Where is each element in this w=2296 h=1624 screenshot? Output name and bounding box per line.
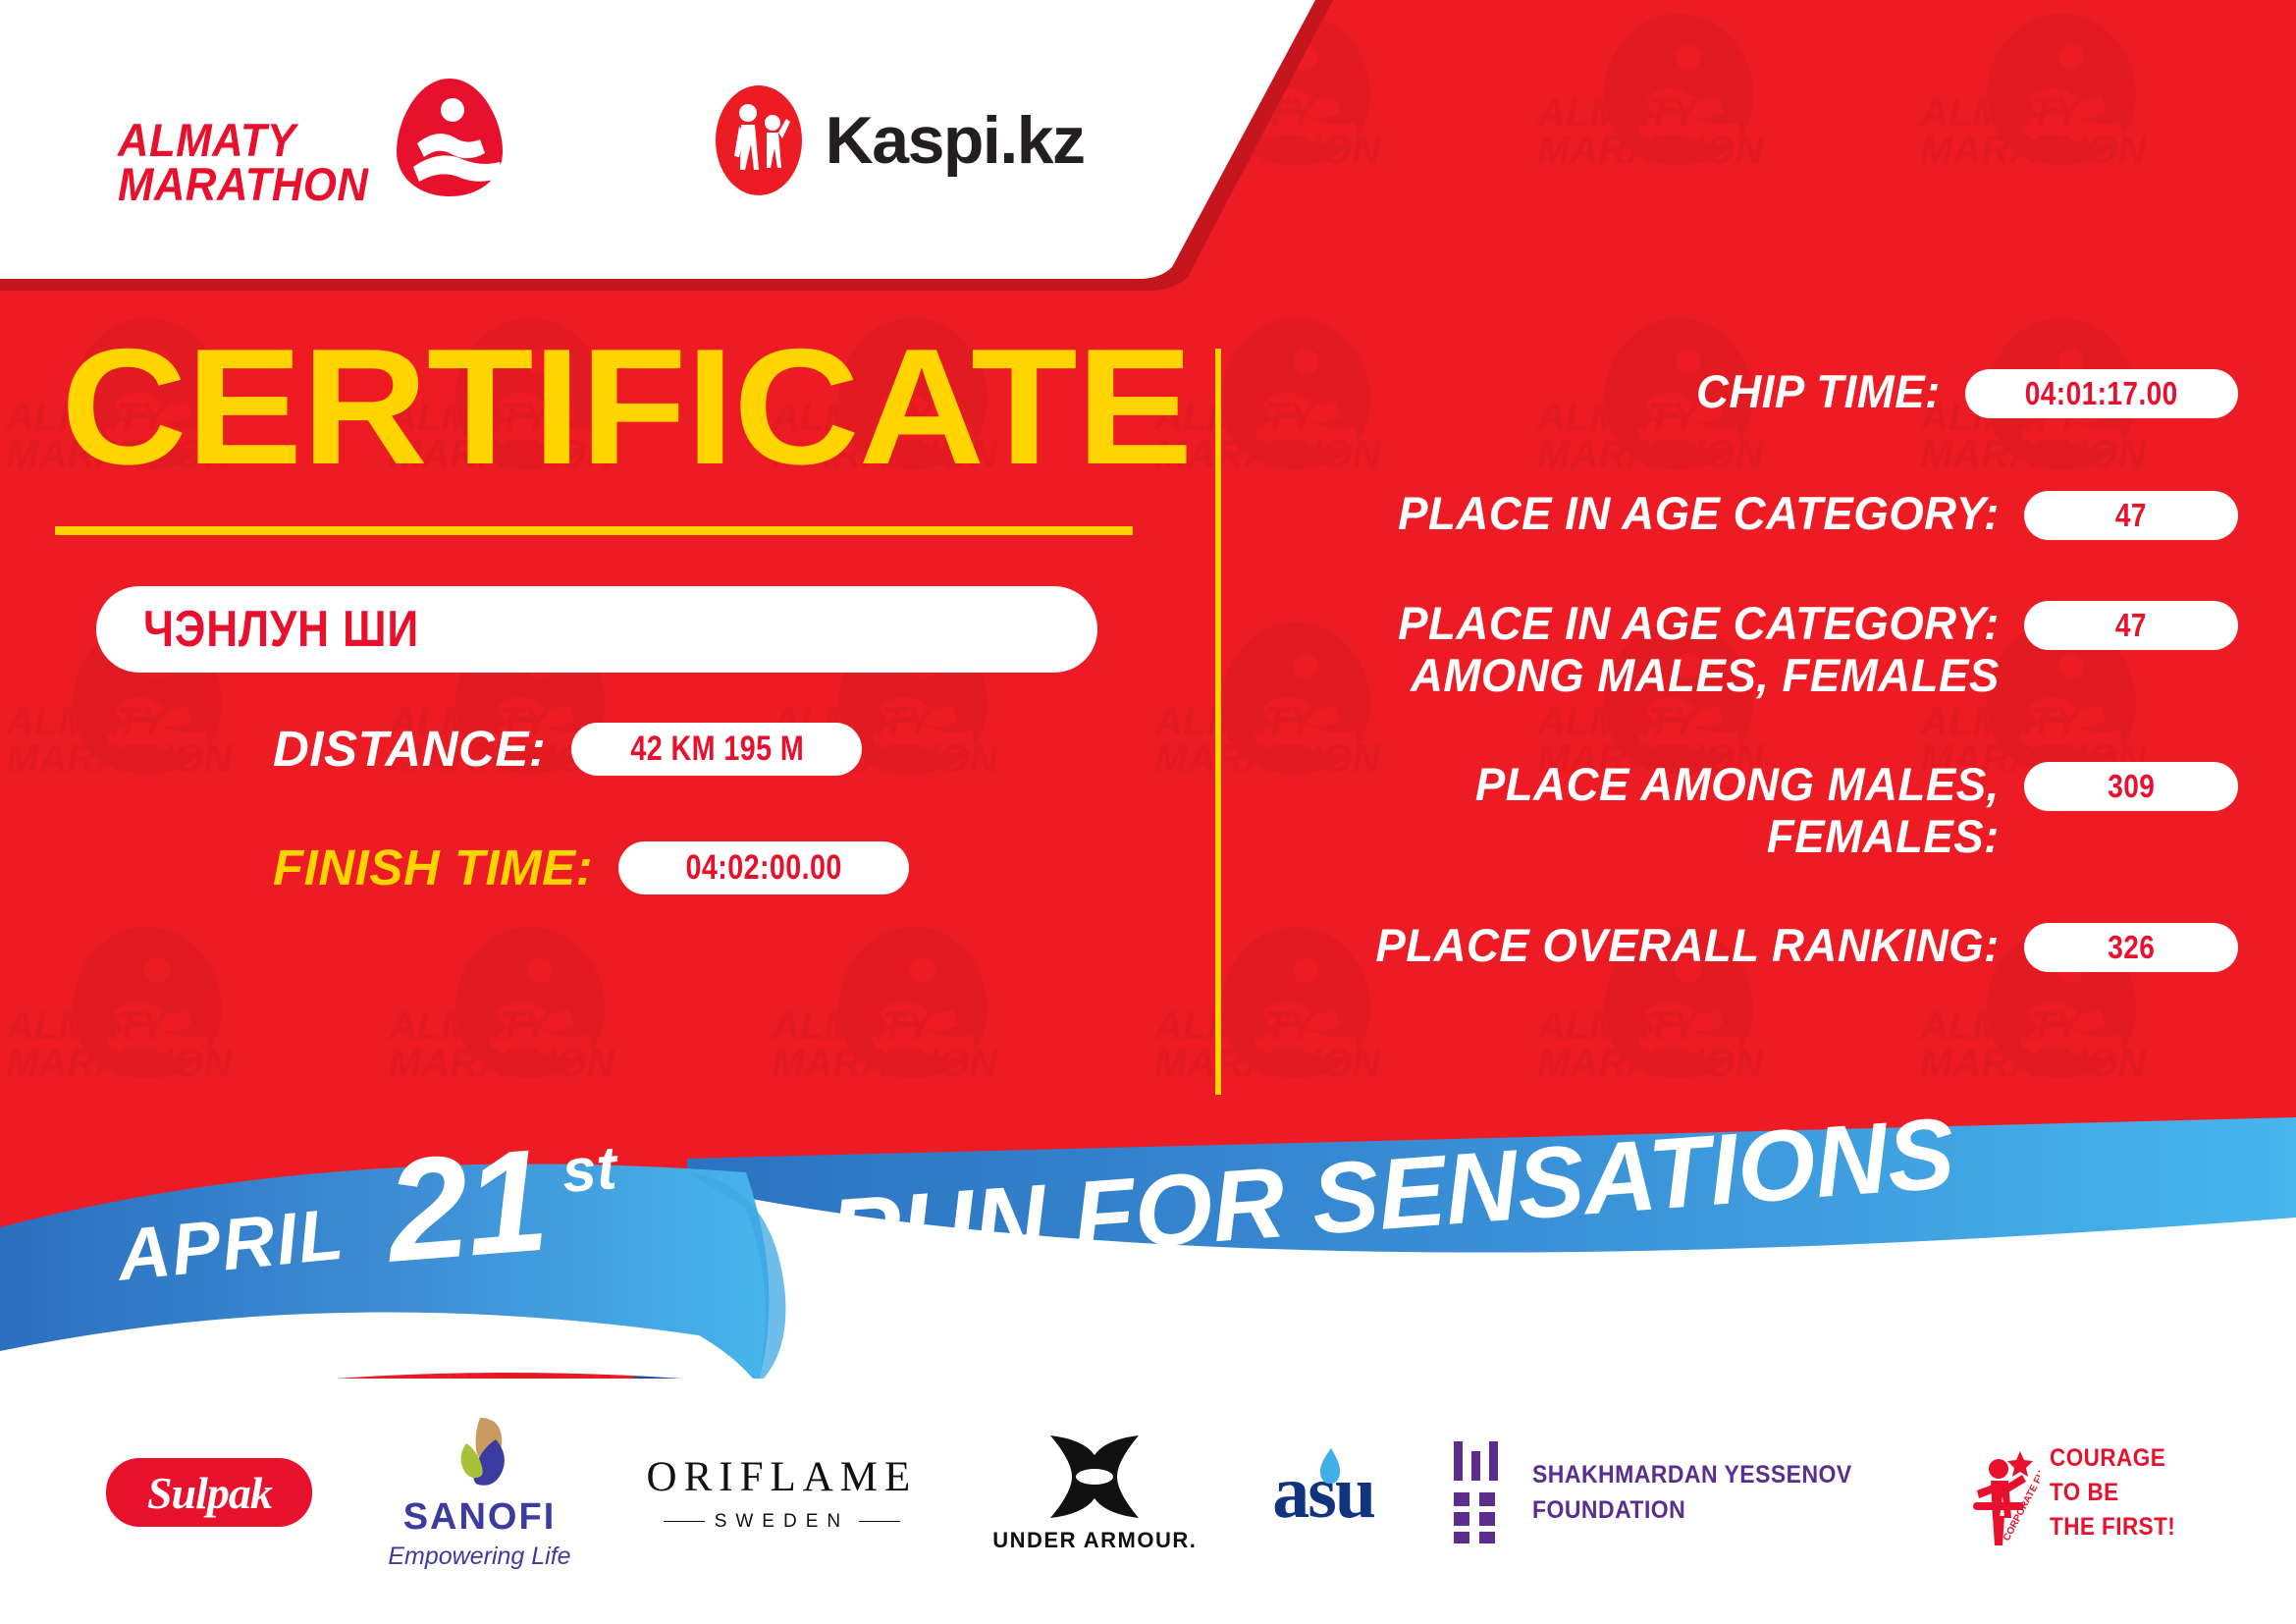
ribbon-day-suffix: st	[561, 1133, 619, 1207]
ribbon-day-number: 21	[381, 1117, 551, 1296]
under-armour-wordmark: UNDER ARMOUR.	[992, 1528, 1197, 1553]
certificate-page: ALMATY MARATHON ALMATY MARATHON	[0, 0, 2296, 1624]
oriflame-tagline-row: SWEDEN	[664, 1511, 900, 1533]
sanofi-tagline: Empowering Life	[388, 1543, 570, 1571]
participant-name-field: ЧЭНЛУН ШИ	[96, 586, 1097, 673]
result-value-pill: 326	[2024, 923, 2238, 972]
header-logos: ALMATY MARATHON Kaspi.kz	[0, 0, 1237, 281]
result-row: CHIP TIME: 04:01:17.00	[1256, 365, 2238, 418]
sponsor-sanofi: SANOFI Empowering Life	[388, 1414, 570, 1571]
kaspi-people-icon	[714, 83, 804, 197]
result-value-pill: 04:01:17.00	[1965, 369, 2238, 418]
sanofi-mark-icon	[437, 1414, 521, 1490]
under-armour-icon	[1037, 1432, 1152, 1522]
result-value: 47	[2115, 607, 2147, 644]
almaty-marathon-wordmark: ALMATY MARATHON	[118, 118, 368, 206]
sponsor-sulpak: Sulpak	[106, 1458, 312, 1527]
courage-wordmark: COURAGE TO BE THE FIRST!	[2050, 1441, 2175, 1544]
sponsor-yessenov-foundation: SHAKHMARDAN YESSENOV FOUNDATION	[1450, 1441, 1880, 1543]
finish-time-row: FINISH TIME: 04:02:00.00	[273, 839, 1207, 896]
oriflame-tagline: SWEDEN	[715, 1511, 849, 1533]
finish-time-label: FINISH TIME:	[273, 839, 593, 896]
sulpak-logo: Sulpak	[106, 1458, 312, 1527]
kaspi-logo: Kaspi.kz	[714, 83, 1085, 197]
kaspi-wordmark: Kaspi.kz	[826, 102, 1085, 179]
result-label: PLACE OVERALL RANKING:	[1279, 919, 2024, 971]
result-row: PLACE IN AGE CATEGORY: AMONG MALES, FEMA…	[1256, 597, 2238, 701]
rule-left-icon	[664, 1521, 705, 1523]
result-value: 47	[2115, 497, 2147, 534]
oriflame-wordmark: ORIFLAME	[647, 1453, 918, 1501]
rule-right-icon	[859, 1521, 900, 1523]
sponsor-courage-fund: CORPORATE FUND COURAGE TO BE THE FIRST!	[1955, 1434, 2190, 1551]
distance-value: 42 KM 195 M	[630, 730, 804, 769]
result-label: PLACE IN AGE CATEGORY: AMONG MALES, FEMA…	[1279, 597, 2024, 701]
finish-time-value: 04:02:00.00	[685, 848, 841, 888]
result-value-pill: 47	[2024, 601, 2238, 650]
courage-lockup: CORPORATE FUND COURAGE TO BE THE FIRST!	[1955, 1434, 2190, 1551]
result-row: PLACE IN AGE CATEGORY: 47	[1256, 487, 2238, 540]
sponsor-under-armour: UNDER ARMOUR.	[992, 1432, 1197, 1553]
sponsor-asu: asu	[1272, 1450, 1374, 1536]
result-row: PLACE OVERALL RANKING: 326	[1256, 919, 2238, 972]
result-label: PLACE AMONG MALES, FEMALES:	[1279, 758, 2024, 862]
page-title: CERTIFICATE	[61, 324, 1276, 489]
almaty-marathon-logo: ALMATY MARATHON	[118, 75, 507, 206]
sponsor-footer: Sulpak SANOFI Empowering Life ORIFLAME S…	[0, 1379, 2296, 1624]
asu-droplet-icon	[1317, 1446, 1343, 1486]
column-divider	[1215, 349, 1221, 1095]
courage-figure-icon: CORPORATE FUND	[1955, 1434, 2040, 1551]
distance-label: DISTANCE:	[273, 720, 546, 778]
sanofi-wordmark: SANOFI	[403, 1496, 557, 1539]
runner-droplet-icon	[392, 75, 507, 200]
result-value: 04:01:17.00	[2025, 375, 2178, 412]
yessenov-bars-icon	[1450, 1441, 1515, 1543]
result-row: PLACE AMONG MALES, FEMALES: 309	[1256, 758, 2238, 862]
sponsor-oriflame: ORIFLAME SWEDEN	[647, 1453, 918, 1533]
result-value-pill: 47	[2024, 491, 2238, 540]
result-value: 326	[2108, 929, 2155, 966]
distance-row: DISTANCE: 42 KM 195 M	[273, 720, 1207, 778]
distance-value-pill: 42 KM 195 M	[571, 723, 862, 776]
sulpak-wordmark: Sulpak	[147, 1467, 272, 1519]
yessenov-wordmark: SHAKHMARDAN YESSENOV FOUNDATION	[1532, 1457, 1852, 1529]
yessenov-lockup: SHAKHMARDAN YESSENOV FOUNDATION	[1450, 1441, 1880, 1543]
participant-name-value: ЧЭНЛУН ШИ	[143, 600, 419, 659]
left-column: CERTIFICATE ЧЭНЛУН ШИ DISTANCE: 42 KM 19…	[0, 324, 1207, 896]
results-column: CHIP TIME: 04:01:17.00 PLACE IN AGE CATE…	[1256, 365, 2238, 1013]
result-label: CHIP TIME:	[1278, 365, 1965, 417]
result-value: 309	[2108, 768, 2155, 805]
title-divider-rule	[55, 526, 1133, 535]
result-label: PLACE IN AGE CATEGORY:	[1279, 487, 2024, 539]
result-value-pill: 309	[2024, 762, 2238, 811]
finish-time-value-pill: 04:02:00.00	[618, 841, 909, 894]
